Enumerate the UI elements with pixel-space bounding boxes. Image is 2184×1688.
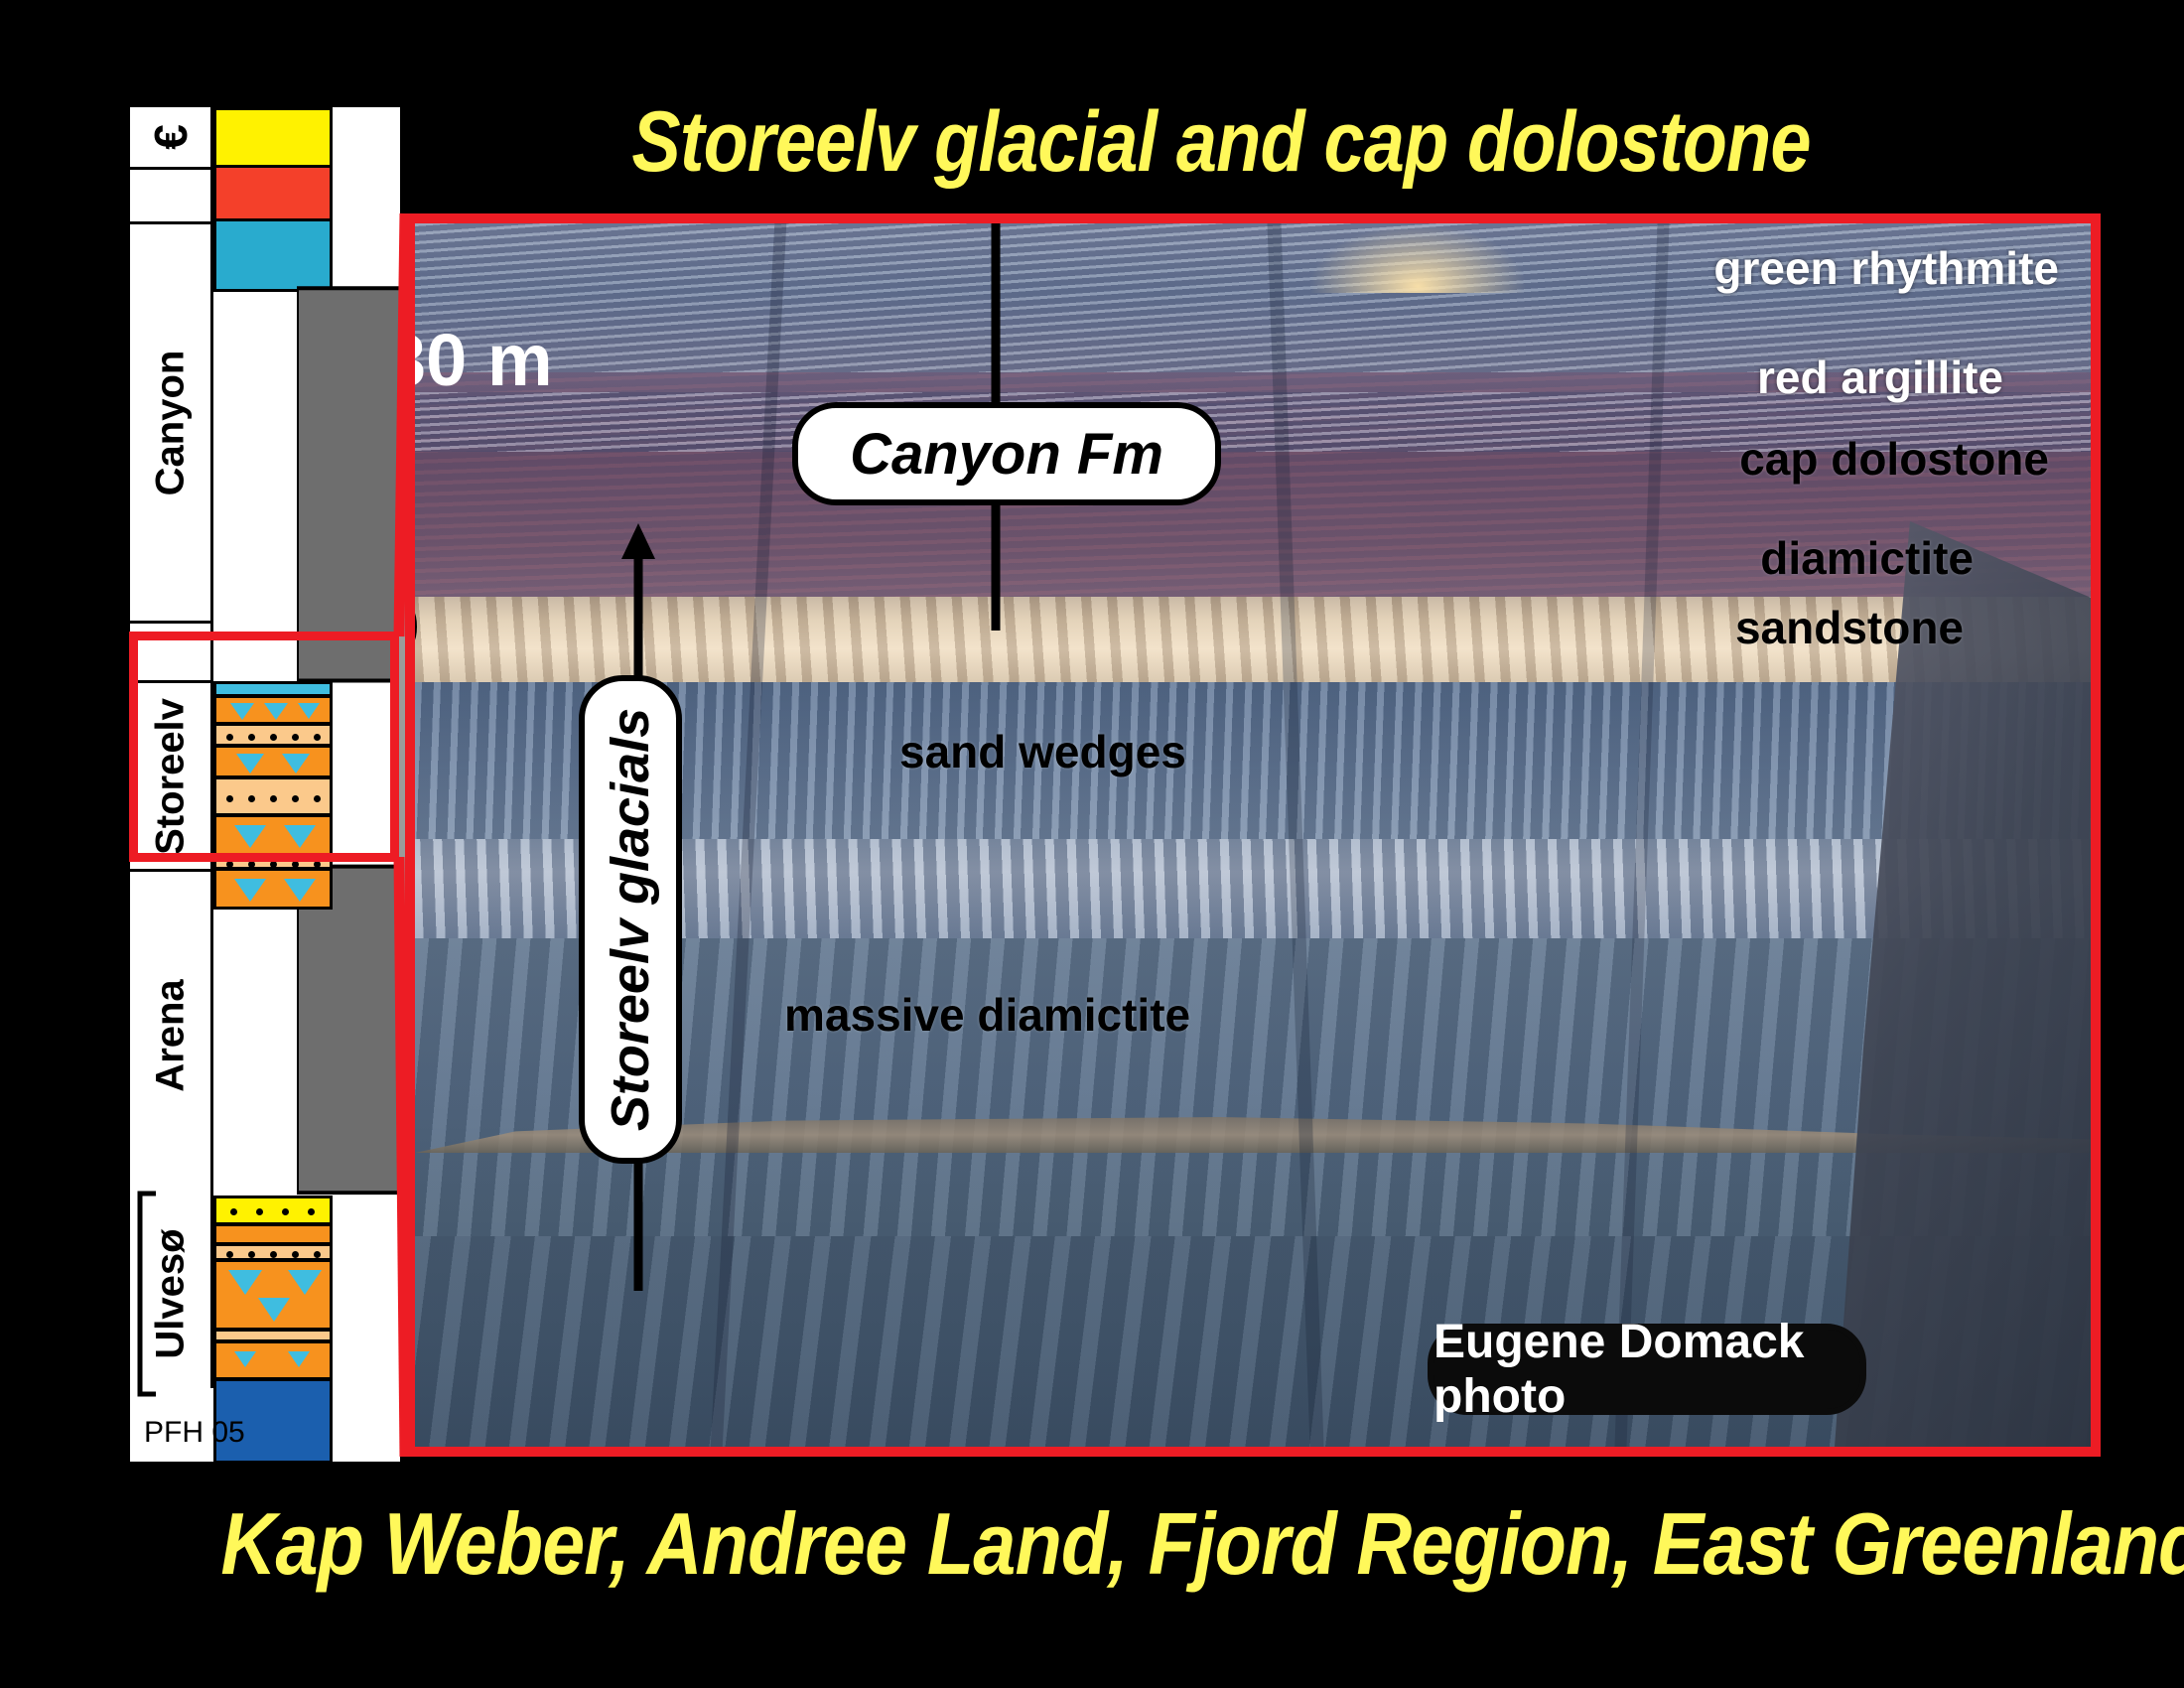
- label-cap-dolostone: cap dolostone: [1739, 432, 2049, 486]
- age-cell-unit-red: [130, 167, 213, 224]
- pill-canyon-fm[interactable]: Canyon Fm: [792, 402, 1221, 505]
- dropstone-icon: [228, 1270, 262, 1295]
- label-diamictite: diamictite: [1760, 531, 1974, 585]
- litho-ulveso-cap-dolostone: [213, 1196, 333, 1225]
- label-red-argillite: red argillite: [1757, 351, 2003, 404]
- litho-ulveso-diamictite-top: [213, 1223, 333, 1245]
- outcrop-photo-frame: 30 m 0 Canyon Fm Storeelv glacials Eugen…: [405, 213, 2101, 1457]
- pill-storeelv-glacials[interactable]: Storeelv glacials: [579, 675, 682, 1164]
- age-label-arena: Arena: [148, 979, 193, 1091]
- label-sand-wedges: sand wedges: [899, 725, 1186, 778]
- litho-ulveso-diamictite-main: [213, 1259, 333, 1331]
- dropstone-icon: [234, 1351, 256, 1367]
- age-cell-arena: Arena: [130, 872, 213, 1199]
- dropstone-icon: [288, 1351, 310, 1367]
- dropstone-icon: [258, 1298, 290, 1322]
- dropstone-icon: [234, 879, 266, 902]
- zoom-highlight-box: [129, 632, 399, 862]
- age-label-cambrian: €: [144, 124, 198, 150]
- pill-photo-credit: Eugene Domack photo: [1428, 1324, 1866, 1415]
- pill-canyon-fm-label: Canyon Fm: [850, 421, 1163, 488]
- ulveso-bracket: [134, 1190, 158, 1398]
- pill-photo-credit-label: Eugene Domack photo: [1433, 1315, 1860, 1424]
- page-title: Storeelv glacial and cap dolostone: [495, 87, 1947, 197]
- label-massive-diamictite: massive diamictite: [784, 988, 1190, 1042]
- scale-label-top: 30 m: [405, 318, 553, 402]
- photo-sunlit-patch: [1308, 223, 1527, 293]
- dropstone-icon: [284, 879, 316, 902]
- pill-storeelv-glacials-label: Storeelv glacials: [600, 708, 661, 1131]
- age-cell-unit-blue: Canyon: [130, 224, 213, 624]
- figure-credit: PFH 05: [144, 1416, 245, 1450]
- litho-storeelv-diamictite-4: [213, 868, 333, 910]
- label-green-rhythmite: green rhythmite: [1713, 241, 2059, 295]
- age-label-canyon: Canyon: [148, 350, 193, 495]
- litho-ulveso-diamictite-base: [213, 1340, 333, 1380]
- dropstone-icon: [288, 1270, 322, 1295]
- page-subtitle: Kap Weber, Andree Land, Fjord Region, Ea…: [220, 1484, 2002, 1604]
- age-cell-cambrian: €: [130, 107, 213, 167]
- scale-label-bottom: 0: [405, 589, 420, 664]
- label-sandstone: sandstone: [1735, 601, 1964, 654]
